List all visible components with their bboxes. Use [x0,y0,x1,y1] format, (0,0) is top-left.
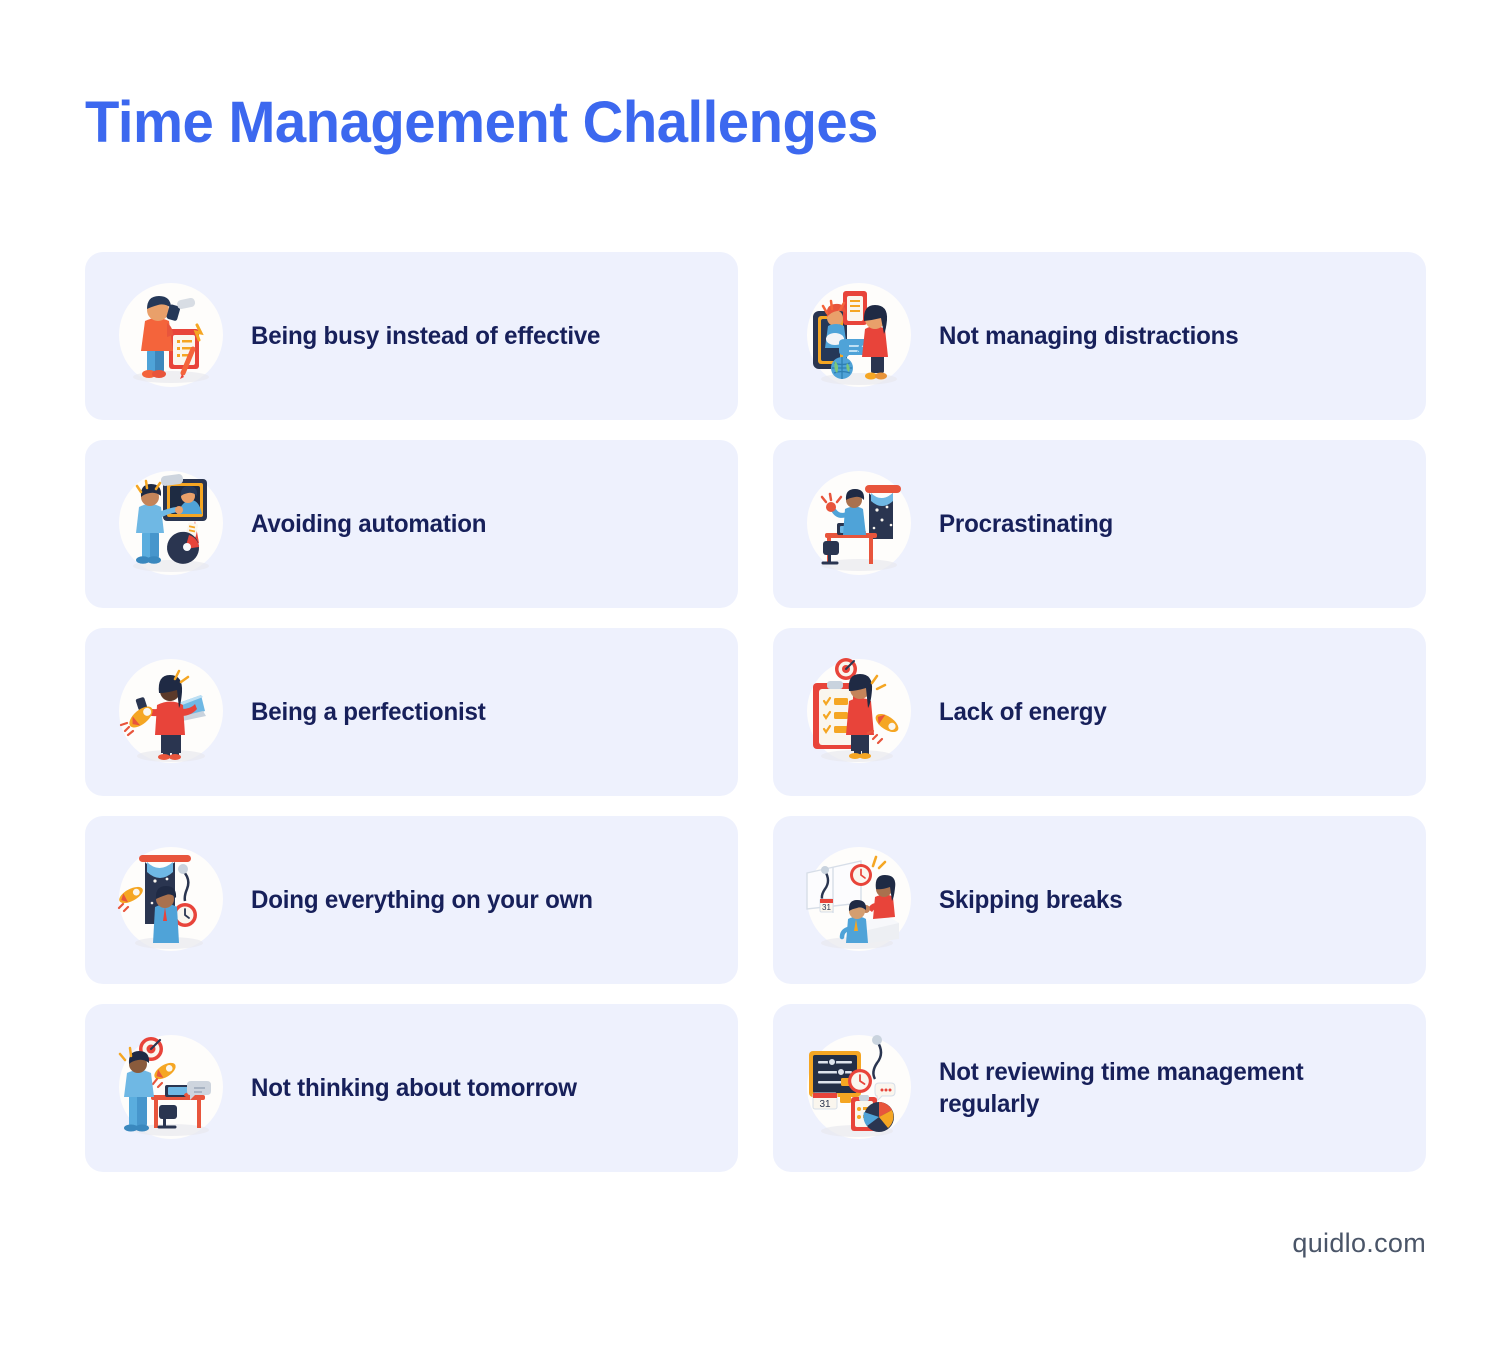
svg-text:31: 31 [819,1099,831,1110]
challenge-card[interactable]: Procrastinating [773,440,1426,608]
page-title: Time Management Challenges [85,93,878,154]
challenge-card-label: Being busy instead of effective [251,320,600,352]
challenge-card-label: Being a perfectionist [251,696,486,728]
challenge-card[interactable]: Lack of energy [773,628,1426,796]
board-calendar-chart-icon: 31 [799,1029,917,1147]
challenge-card[interactable]: 31 [773,1004,1426,1172]
challenge-card-label: Skipping breaks [939,884,1122,916]
challenge-card[interactable]: Being a perfectionist [85,628,738,796]
challenge-card-label: Procrastinating [939,508,1113,540]
infographic-page: Time Management Challenges [0,0,1512,1354]
person-monitor-gear-icon [111,465,229,583]
site-watermark: quidlo.com [1292,1228,1426,1259]
challenge-card-label: Not reviewing time management regularly [939,1056,1386,1120]
challenge-card-grid: Being busy instead of effective [85,252,1426,1172]
person-phone-checklist-icon [111,277,229,395]
challenge-card[interactable]: Doing everything on your own [85,816,738,984]
challenge-card[interactable]: Avoiding automation [85,440,738,608]
challenge-card[interactable]: 31 [773,816,1426,984]
challenge-card[interactable]: Not thinking about tomorrow [85,1004,738,1172]
person-desk-target-icon [111,1029,229,1147]
challenge-card[interactable]: Not managing distractions [773,252,1426,420]
two-people-clock-desk-icon: 31 [799,841,917,959]
challenge-card-label: Not thinking about tomorrow [251,1072,577,1104]
person-desk-window-icon [799,465,917,583]
person-curtain-clock-icon [111,841,229,959]
challenge-card-label: Not managing distractions [939,320,1238,352]
woman-clipboard-target-icon [799,653,917,771]
challenge-card[interactable]: Being busy instead of effective [85,252,738,420]
woman-laptop-rocket-icon [111,653,229,771]
svg-text:31: 31 [822,903,831,912]
challenge-card-label: Lack of energy [939,696,1107,728]
challenge-card-label: Doing everything on your own [251,884,593,916]
challenge-card-label: Avoiding automation [251,508,486,540]
person-screen-globe-icon [799,277,917,395]
